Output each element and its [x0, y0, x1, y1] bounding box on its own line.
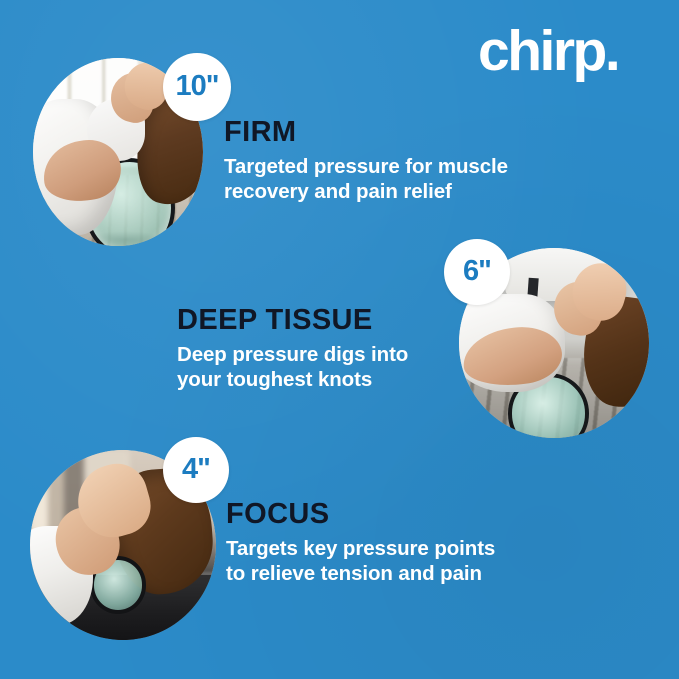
size-badge-10in: 10" [163, 53, 231, 121]
size-badge-10in-label: 10" [175, 72, 218, 101]
feature-subtitle-focus: Targets key pressure points to relieve t… [226, 536, 646, 586]
feature-subtitle-firm-line1: Targeted pressure for muscle [224, 154, 644, 179]
feature-subtitle-deep-tissue-line1: Deep pressure digs into [177, 342, 577, 367]
feature-text-deep-tissue: DEEP TISSUE Deep pressure digs into your… [177, 306, 577, 392]
feature-title-focus: FOCUS [226, 500, 646, 530]
product-feature-infographic: chirp. 10" FIRM Targeted pressure for mu… [0, 0, 679, 679]
feature-subtitle-deep-tissue: Deep pressure digs into your toughest kn… [177, 342, 577, 392]
size-badge-6in-label: 6" [463, 257, 491, 286]
feature-subtitle-deep-tissue-line2: your toughest knots [177, 367, 577, 392]
feature-subtitle-firm: Targeted pressure for muscle recovery an… [224, 154, 644, 204]
size-badge-4in-label: 4" [182, 455, 210, 484]
feature-subtitle-focus-line2: to relieve tension and pain [226, 561, 646, 586]
feature-title-deep-tissue: DEEP TISSUE [177, 306, 577, 336]
size-badge-6in: 6" [444, 239, 510, 305]
feature-subtitle-firm-line2: recovery and pain relief [224, 179, 644, 204]
size-badge-4in: 4" [163, 437, 229, 503]
feature-text-focus: FOCUS Targets key pressure points to rel… [226, 500, 646, 586]
feature-text-firm: FIRM Targeted pressure for muscle recove… [224, 118, 644, 204]
chirp-logo: chirp. [478, 18, 658, 84]
feature-subtitle-focus-line1: Targets key pressure points [226, 536, 646, 561]
feature-title-firm: FIRM [224, 118, 644, 148]
